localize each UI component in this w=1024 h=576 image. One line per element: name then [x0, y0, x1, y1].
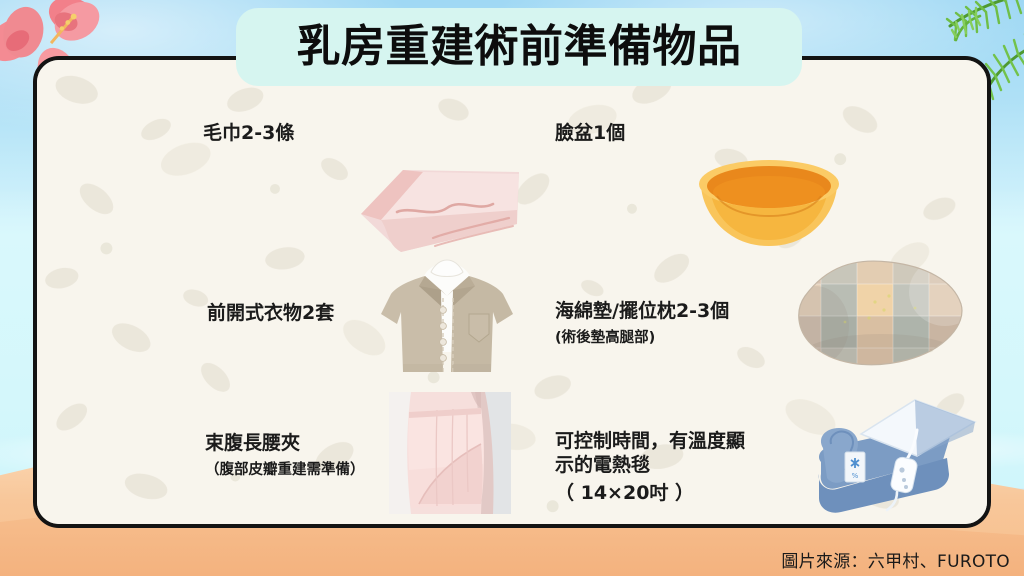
item-electric-blanket-label-line2: 示的電熱毯 [555, 452, 745, 480]
item-electric-blanket-label: 可控制時間，有溫度顯 [555, 430, 745, 452]
item-sponge-pad-pillow-sub: (術後墊高腿部) [555, 328, 729, 350]
item-basin: 臉盆1個 [555, 122, 625, 144]
electric-blanket-illustration: % [797, 388, 987, 518]
poster-stage: 毛巾2-3條 臉盆1個 [0, 0, 1024, 576]
abdominal-binder-photo [389, 392, 511, 514]
content-card: 毛巾2-3條 臉盆1個 [33, 56, 991, 528]
page-title: 乳房重建術前準備物品 [297, 25, 742, 69]
folded-towel-illustration [337, 148, 537, 260]
item-towel-label: 毛巾2-3條 [203, 122, 294, 144]
front-open-shirt-illustration [357, 256, 537, 396]
svg-text:%: % [852, 472, 859, 480]
item-abdominal-binder-label: 束腹長腰夾 [205, 432, 365, 454]
item-towel: 毛巾2-3條 [203, 122, 294, 144]
plaid-pillow-illustration [785, 252, 975, 376]
item-sponge-pad-pillow-label: 海綿墊/擺位枕2-3個 [555, 300, 729, 322]
item-abdominal-binder: 束腹長腰夾 （腹部皮瓣重建需準備） [205, 432, 365, 482]
image-credit: 圖片來源：六甲村、FUROTO [781, 547, 1010, 572]
item-abdominal-binder-sub: （腹部皮瓣重建需準備） [205, 460, 365, 482]
item-front-open-clothes-label: 前開式衣物2套 [207, 302, 334, 324]
item-electric-blanket-sub: （ 14×20吋 ） [555, 480, 745, 508]
item-sponge-pad-pillow: 海綿墊/擺位枕2-3個 (術後墊高腿部) [555, 300, 729, 350]
item-electric-blanket: 可控制時間，有溫度顯 示的電熱毯 （ 14×20吋 ） [555, 430, 745, 508]
item-basin-label: 臉盆1個 [555, 122, 625, 144]
wash-basin-illustration [687, 150, 851, 260]
item-front-open-clothes: 前開式衣物2套 [207, 302, 334, 324]
title-banner: 乳房重建術前準備物品 [236, 8, 802, 86]
